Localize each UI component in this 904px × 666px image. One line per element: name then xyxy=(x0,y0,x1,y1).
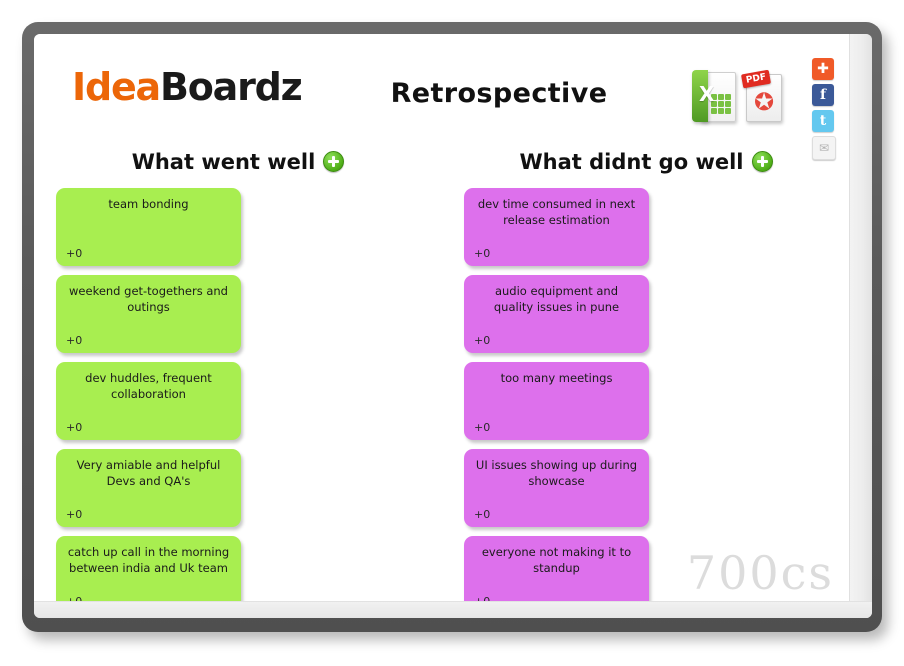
window-content-area: IdeaBoardz Retrospective X ✪ xyxy=(34,34,872,618)
idea-card-text: UI issues showing up during showcase xyxy=(474,458,639,489)
column-what-went-well: What went well team bonding+0weekend get… xyxy=(34,126,442,602)
idea-card-text: Very amiable and helpful Devs and QA's xyxy=(66,458,231,489)
export-icon-group: X ✪ PDF xyxy=(692,70,786,124)
idea-card[interactable]: everyone not making it to standup+0 xyxy=(464,536,649,602)
idea-card-text: weekend get-togethers and outings xyxy=(66,284,231,315)
idea-card-vote-count[interactable]: +0 xyxy=(474,583,639,602)
column-what-didnt-go-well: What didnt go well dev time consumed in … xyxy=(442,126,850,602)
idea-card-text: audio equipment and quality issues in pu… xyxy=(474,284,639,315)
idea-card-vote-count[interactable]: +0 xyxy=(474,322,639,347)
excel-x-glyph: X xyxy=(699,82,714,106)
add-idea-button-right[interactable] xyxy=(752,151,773,172)
idea-card[interactable]: dev huddles, frequent collaboration+0 xyxy=(56,362,241,440)
idea-card-text: dev huddles, frequent collaboration xyxy=(66,371,231,402)
idea-card-vote-count[interactable]: +0 xyxy=(66,235,231,260)
add-idea-button-left[interactable] xyxy=(323,151,344,172)
page-title: Retrospective xyxy=(334,78,664,109)
idea-card-vote-count[interactable]: +0 xyxy=(66,322,231,347)
bottom-strip xyxy=(34,601,872,618)
idea-card[interactable]: weekend get-togethers and outings+0 xyxy=(56,275,241,353)
card-list-left: team bonding+0weekend get-togethers and … xyxy=(42,188,434,602)
idea-card-text: team bonding xyxy=(66,197,231,213)
pdf-export-icon[interactable]: ✪ PDF xyxy=(742,70,786,124)
page-header: IdeaBoardz Retrospective X ✪ xyxy=(34,34,850,126)
idea-card[interactable]: audio equipment and quality issues in pu… xyxy=(464,275,649,353)
idea-card[interactable]: UI issues showing up during showcase+0 xyxy=(464,449,649,527)
browser-window-frame: IdeaBoardz Retrospective X ✪ xyxy=(22,22,882,632)
share-plus-icon[interactable]: ✚ xyxy=(812,58,834,80)
ideaboardz-page: IdeaBoardz Retrospective X ✪ xyxy=(34,34,850,602)
idea-card-vote-count[interactable]: +0 xyxy=(474,409,639,434)
column-header-what-didnt-go-well: What didnt go well xyxy=(450,150,842,174)
idea-card-text: everyone not making it to standup xyxy=(474,545,639,576)
idea-card[interactable]: too many meetings+0 xyxy=(464,362,649,440)
excel-export-icon[interactable]: X xyxy=(692,70,736,124)
idea-card-text: too many meetings xyxy=(474,371,639,387)
logo-text-idea: Idea xyxy=(72,65,160,109)
pdf-swirl-shape: ✪ xyxy=(754,90,774,114)
column-title-label: What didnt go well xyxy=(519,150,743,174)
idea-card[interactable]: team bonding+0 xyxy=(56,188,241,266)
idea-card-vote-count[interactable]: +0 xyxy=(474,235,639,260)
right-scroll-strip[interactable] xyxy=(849,34,872,618)
idea-card-vote-count[interactable]: +0 xyxy=(66,583,231,602)
board-columns: What went well team bonding+0weekend get… xyxy=(34,126,850,602)
facebook-icon[interactable]: f xyxy=(812,84,834,106)
ideaboardz-logo[interactable]: IdeaBoardz xyxy=(72,68,302,106)
column-header-what-went-well: What went well xyxy=(42,150,434,174)
idea-card-vote-count[interactable]: +0 xyxy=(66,496,231,521)
idea-card[interactable]: dev time consumed in next release estima… xyxy=(464,188,649,266)
idea-card[interactable]: Very amiable and helpful Devs and QA's+0 xyxy=(56,449,241,527)
idea-card-text: catch up call in the morning between ind… xyxy=(66,545,231,576)
logo-text-boardz: Boardz xyxy=(160,65,302,109)
idea-card-vote-count[interactable]: +0 xyxy=(474,496,639,521)
card-list-right: dev time consumed in next release estima… xyxy=(450,188,842,602)
column-title-label: What went well xyxy=(132,150,316,174)
idea-card-text: dev time consumed in next release estima… xyxy=(474,197,639,228)
idea-card-vote-count[interactable]: +0 xyxy=(66,409,231,434)
idea-card[interactable]: catch up call in the morning between ind… xyxy=(56,536,241,602)
